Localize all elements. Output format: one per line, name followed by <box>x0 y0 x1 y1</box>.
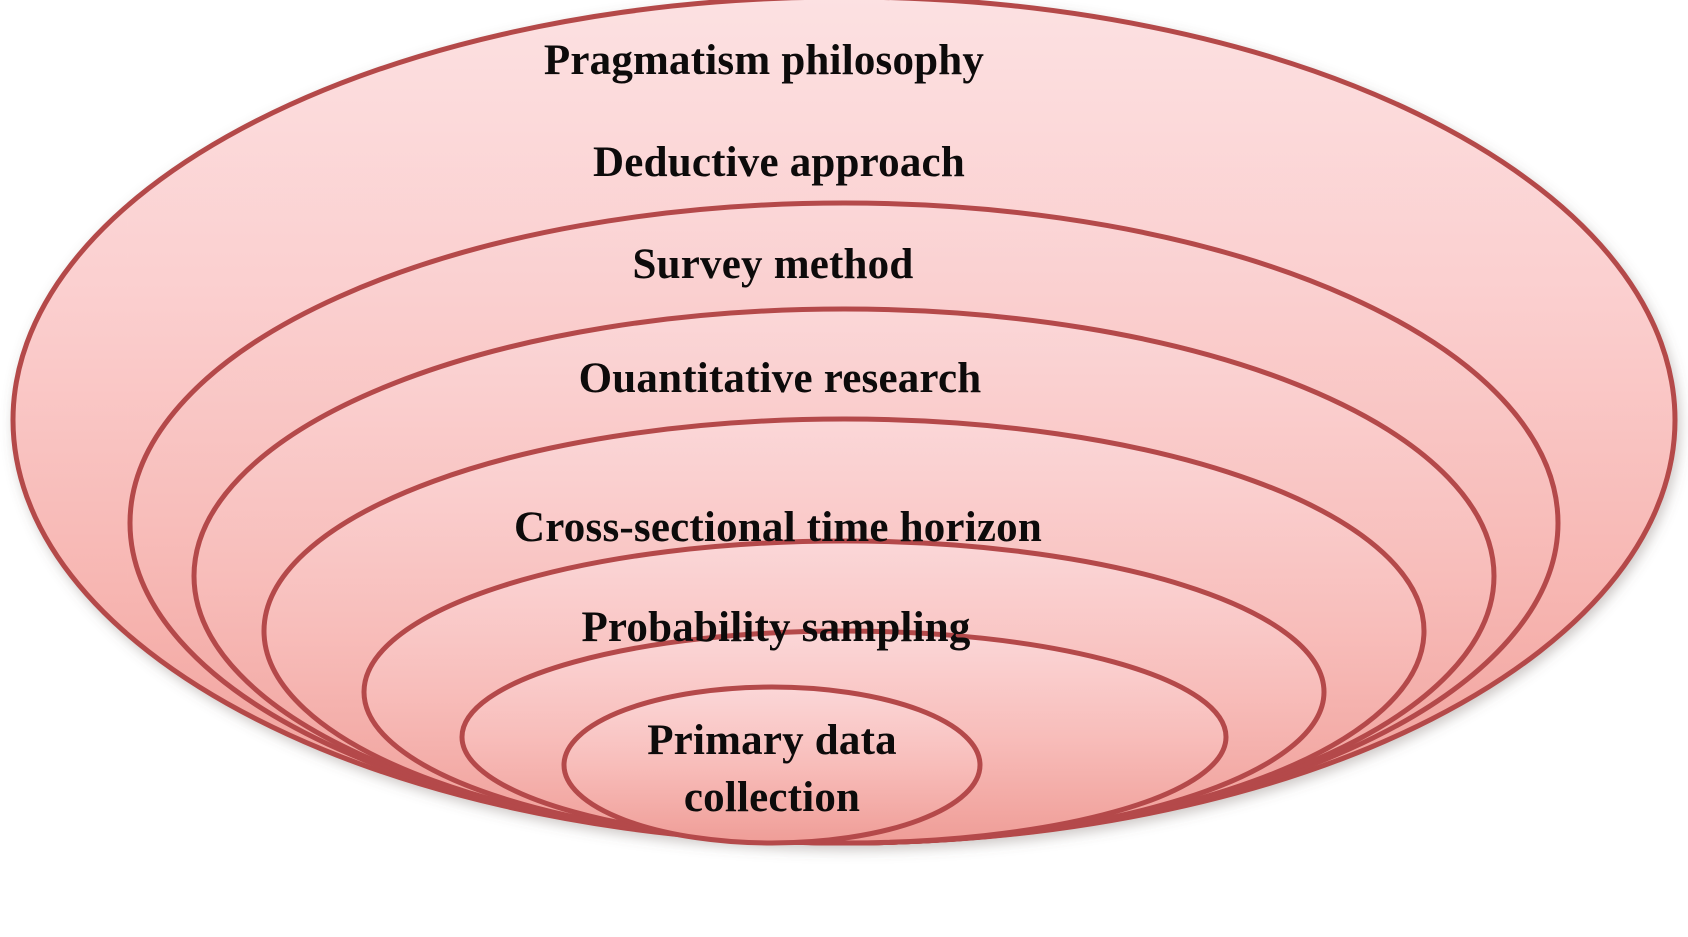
philosophy-layer-label: Pragmatism philosophy <box>544 37 985 84</box>
research-onion-diagram: Pragmatism philosophy Deductive approach… <box>0 0 1688 937</box>
sampling-layer-label: Probability sampling <box>581 604 970 651</box>
data-collection-layer-label-line2: collection <box>684 774 860 821</box>
data-collection-layer[interactable]: Primary data collection <box>564 687 980 843</box>
research-choice-layer-label: Ouantitative research <box>579 355 982 402</box>
onion-canvas: Pragmatism philosophy Deductive approach… <box>0 0 1688 937</box>
time-horizon-layer-label: Cross-sectional time horizon <box>514 504 1042 551</box>
method-layer-label: Survey method <box>633 241 914 288</box>
data-collection-layer-label-line1: Primary data <box>647 717 897 764</box>
approach-layer-label: Deductive approach <box>593 139 965 186</box>
